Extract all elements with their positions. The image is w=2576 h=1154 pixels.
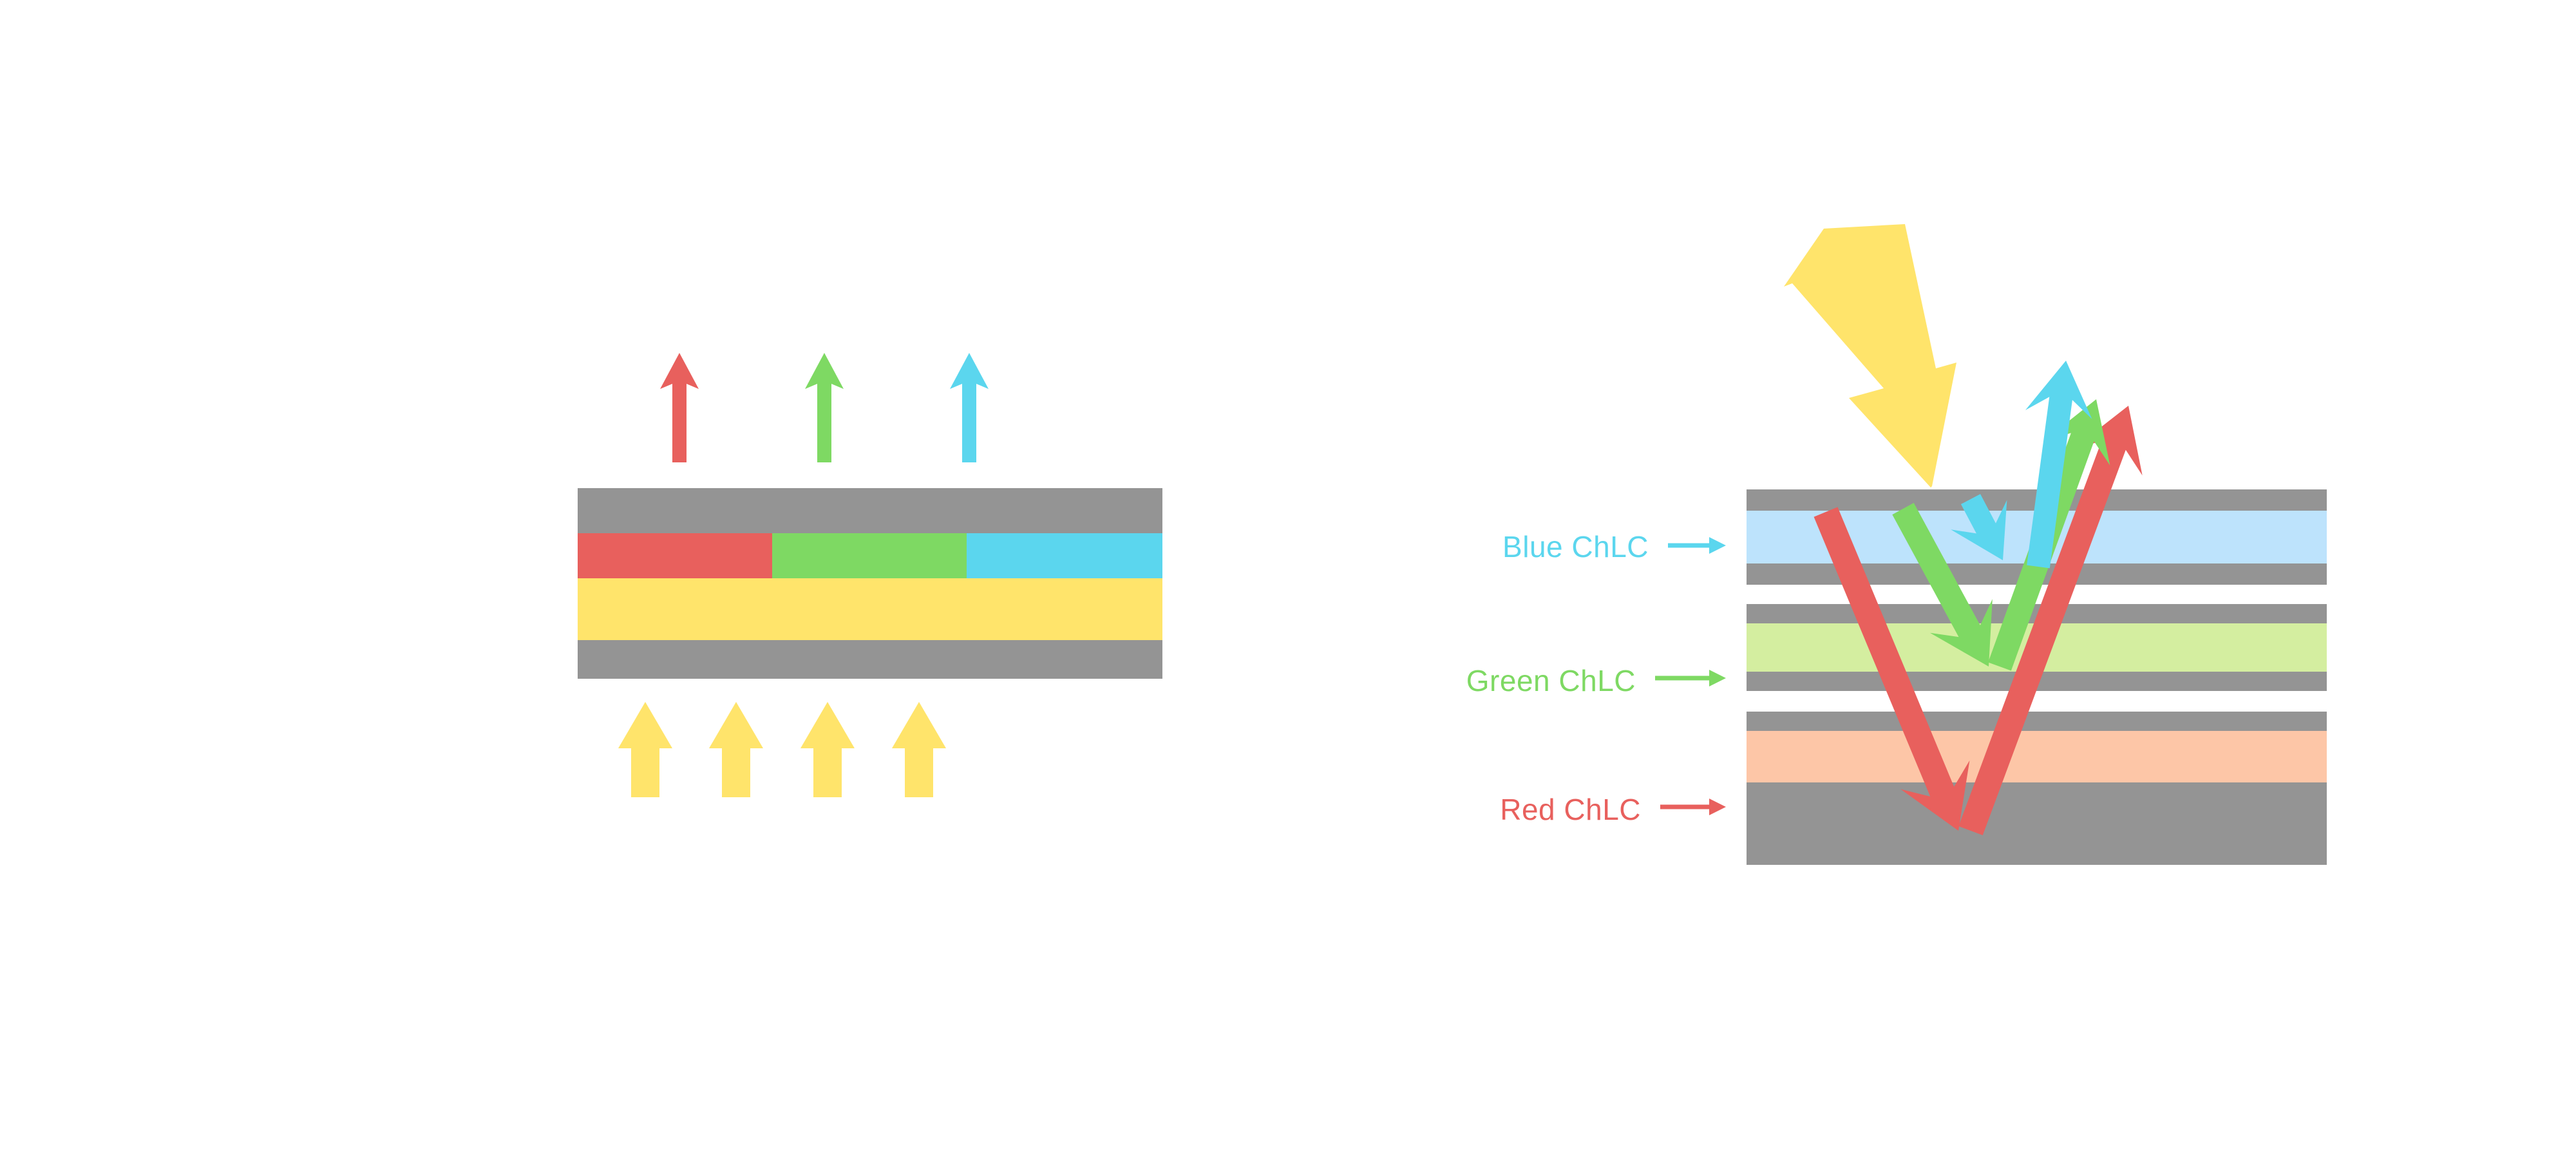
red-chlc-label-text: Red ChLC bbox=[1500, 793, 1641, 826]
green-chlc-label-pointer-head bbox=[1709, 670, 1726, 686]
blue-chlc-label-text: Blue ChLC bbox=[1502, 530, 1649, 563]
blue-chlc-label: Blue ChLC bbox=[1502, 529, 1649, 564]
blue-chlc-label-pointer-head bbox=[1709, 537, 1726, 554]
blue-emission-arrow bbox=[950, 353, 989, 462]
red-chlc-label: Red ChLC bbox=[1500, 792, 1641, 827]
blue-incident-ray bbox=[1951, 494, 2007, 560]
backlight-arrow-2 bbox=[709, 702, 763, 797]
red-chlc-label-pointer-head bbox=[1709, 799, 1726, 815]
figure-canvas: Blue ChLCGreen ChLCRed ChLC bbox=[0, 0, 2576, 1154]
arrows-layer bbox=[0, 0, 2576, 1154]
green-chlc-label-text: Green ChLC bbox=[1466, 664, 1636, 697]
backlight-arrow-1 bbox=[618, 702, 672, 797]
green-emission-arrow bbox=[805, 353, 844, 462]
backlight-arrow-4 bbox=[892, 702, 946, 797]
red-emission-arrow bbox=[660, 353, 699, 462]
red-incident-ray bbox=[1814, 507, 1970, 831]
backlight-arrow-3 bbox=[800, 702, 855, 797]
white-light-incident-arrow bbox=[1784, 224, 1956, 487]
green-chlc-label: Green ChLC bbox=[1466, 663, 1636, 698]
